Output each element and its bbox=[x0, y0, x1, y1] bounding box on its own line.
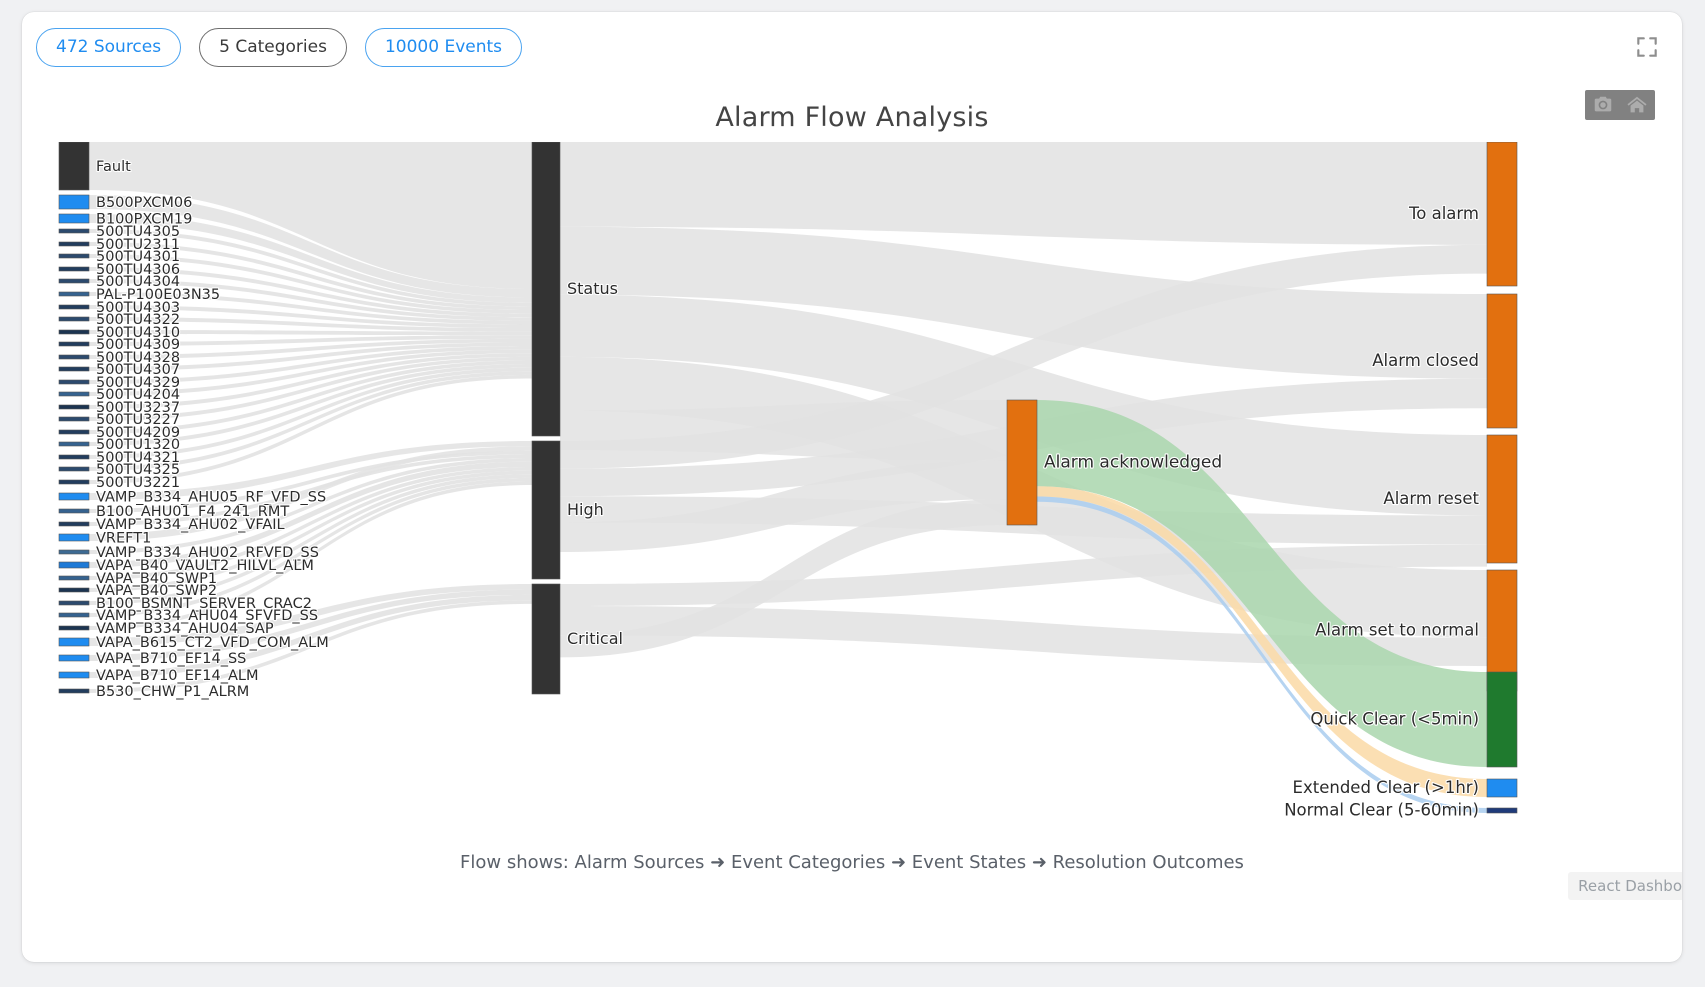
sankey-node[interactable] bbox=[59, 292, 89, 296]
sankey-node-label: B530_CHW_P1_ALRM bbox=[96, 684, 249, 700]
sankey-node-label: Critical bbox=[567, 629, 623, 648]
badge-sources[interactable]: 472 Sources bbox=[36, 28, 181, 67]
sankey-node[interactable] bbox=[59, 367, 89, 371]
sankey-node[interactable] bbox=[59, 562, 89, 568]
dashboard-card: 472 Sources 5 Categories 10000 Events bbox=[22, 12, 1682, 962]
sankey-node[interactable] bbox=[59, 638, 89, 646]
sankey-node[interactable] bbox=[59, 467, 89, 471]
sankey-node-label: Extended Clear (>1hr) bbox=[1293, 778, 1479, 797]
sankey-node[interactable] bbox=[59, 672, 89, 678]
sankey-node-label: VAPA_B710_EF14_SS bbox=[96, 651, 246, 667]
sankey-node[interactable] bbox=[59, 214, 89, 223]
sankey-node-label: Normal Clear (5-60min) bbox=[1284, 801, 1479, 820]
sankey-node-label: High bbox=[567, 500, 604, 519]
sankey-node[interactable] bbox=[59, 455, 89, 459]
sankey-node-label: Alarm closed bbox=[1372, 351, 1479, 370]
sankey-node[interactable] bbox=[59, 493, 89, 500]
sankey-node[interactable] bbox=[1487, 435, 1517, 563]
sankey-node[interactable] bbox=[59, 229, 89, 233]
sankey-node[interactable] bbox=[1487, 779, 1517, 797]
sankey-node[interactable] bbox=[1487, 672, 1517, 767]
sankey-node[interactable] bbox=[59, 330, 89, 334]
sankey-node[interactable] bbox=[59, 305, 89, 309]
sankey-node[interactable] bbox=[59, 613, 89, 617]
sankey-node[interactable] bbox=[532, 584, 560, 694]
sankey-diagram: FaultB500PXCM06B100PXCM19500TU4305500TU2… bbox=[22, 142, 1682, 848]
sankey-node[interactable] bbox=[59, 550, 89, 554]
sankey-node[interactable] bbox=[59, 380, 89, 384]
sankey-node[interactable] bbox=[532, 142, 560, 436]
sankey-node[interactable] bbox=[1487, 294, 1517, 428]
sankey-node[interactable] bbox=[59, 480, 89, 484]
sankey-node[interactable] bbox=[59, 442, 89, 446]
sankey-node[interactable] bbox=[1007, 400, 1037, 525]
summary-badges: 472 Sources 5 Categories 10000 Events bbox=[36, 28, 522, 67]
sankey-node[interactable] bbox=[532, 441, 560, 579]
sankey-node-label: B500PXCM06 bbox=[96, 195, 192, 211]
sankey-node-label: Alarm acknowledged bbox=[1044, 453, 1222, 473]
sankey-node[interactable] bbox=[59, 317, 89, 321]
sankey-node[interactable] bbox=[59, 509, 89, 513]
sankey-node[interactable] bbox=[59, 588, 89, 592]
sankey-node[interactable] bbox=[59, 392, 89, 396]
sankey-node[interactable] bbox=[59, 655, 89, 661]
sankey-node-label: Alarm reset bbox=[1383, 489, 1479, 508]
sankey-node[interactable] bbox=[59, 430, 89, 434]
sankey-node[interactable] bbox=[1487, 808, 1517, 813]
brand-watermark: React Dashbo bbox=[1568, 872, 1682, 900]
sankey-node[interactable] bbox=[59, 342, 89, 346]
sankey-node[interactable] bbox=[59, 254, 89, 258]
sankey-node[interactable] bbox=[59, 195, 89, 209]
sankey-node[interactable] bbox=[59, 689, 89, 693]
sankey-node-label: VAPA_B615_CT2_VFD_COM_ALM bbox=[96, 635, 329, 651]
sankey-node[interactable] bbox=[59, 417, 89, 421]
sankey-links bbox=[89, 142, 1487, 813]
page-title: Alarm Flow Analysis bbox=[22, 102, 1682, 133]
sankey-node-label: VAPA_B710_EF14_ALM bbox=[96, 668, 258, 684]
sankey-node[interactable] bbox=[59, 279, 89, 283]
sankey-node[interactable] bbox=[59, 242, 89, 246]
sankey-node[interactable] bbox=[59, 576, 89, 580]
badge-categories[interactable]: 5 Categories bbox=[199, 28, 347, 67]
sankey-node[interactable] bbox=[59, 355, 89, 359]
sankey-node[interactable] bbox=[1487, 142, 1517, 286]
sankey-node[interactable] bbox=[59, 267, 89, 271]
sankey-node[interactable] bbox=[59, 142, 89, 190]
sankey-node[interactable] bbox=[59, 626, 89, 630]
sankey-node-label: To alarm bbox=[1408, 204, 1479, 223]
sankey-node-label: Alarm set to normal bbox=[1315, 621, 1479, 640]
sankey-node[interactable] bbox=[59, 534, 89, 541]
sankey-node[interactable] bbox=[59, 522, 89, 526]
sankey-node-label: Fault bbox=[96, 159, 131, 175]
sankey-node-label: Quick Clear (<5min) bbox=[1310, 710, 1479, 729]
flow-legend-note: Flow shows: Alarm Sources ➜ Event Catego… bbox=[22, 852, 1682, 873]
app-root: 472 Sources 5 Categories 10000 Events bbox=[0, 0, 1705, 987]
sankey-node[interactable] bbox=[59, 601, 89, 605]
expand-icon[interactable] bbox=[1634, 34, 1660, 60]
sankey-node[interactable] bbox=[59, 405, 89, 409]
sankey-node-label: Status bbox=[567, 279, 618, 298]
badge-events[interactable]: 10000 Events bbox=[365, 28, 522, 67]
